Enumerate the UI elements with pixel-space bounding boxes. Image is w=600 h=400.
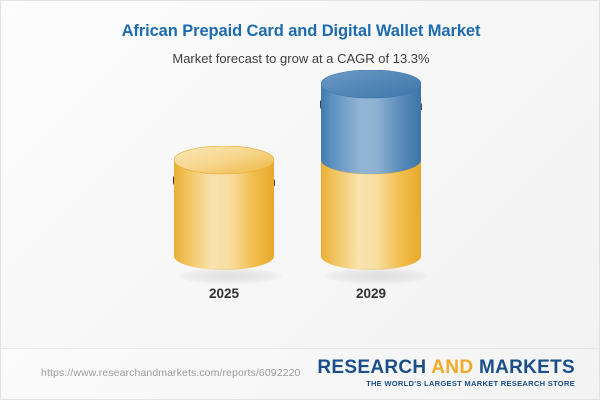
cylinder-2029-shape[interactable] xyxy=(321,70,421,270)
logo-word-markets: MARKETS xyxy=(479,357,575,378)
logo-word-research: RESEARCH xyxy=(317,357,426,378)
infographic-card: African Prepaid Card and Digital Wallet … xyxy=(0,0,600,400)
research-and-markets-logo[interactable]: RESEARCH AND MARKETS THE WORLD'S LARGEST… xyxy=(317,358,575,388)
cylinder-2025-shape[interactable] xyxy=(174,146,274,270)
category-label-2025: 2025 xyxy=(164,286,284,301)
cylinder-shadow xyxy=(178,268,282,284)
cylinder-2029-segment-base xyxy=(321,160,421,270)
logo-word-and-text: AND xyxy=(431,357,473,378)
cylinder-2029 xyxy=(321,70,421,275)
cylinder-2029-segment-growth-top xyxy=(321,70,421,98)
cylinder-2025 xyxy=(174,146,274,275)
report-url[interactable]: https://www.researchandmarkets.com/repor… xyxy=(41,367,300,379)
footer: https://www.researchandmarkets.com/repor… xyxy=(1,348,600,399)
chart-plot-area: USD 36.1 Billion xyxy=(1,1,600,351)
category-label-2029: 2029 xyxy=(311,286,431,301)
cylinder-shadow xyxy=(325,268,429,284)
cylinder-2025-top xyxy=(174,146,274,174)
cylinder-2025-body xyxy=(174,160,274,270)
logo-wordmark: RESEARCH AND MARKETS xyxy=(317,358,575,377)
logo-tagline: THE WORLD'S LARGEST MARKET RESEARCH STOR… xyxy=(317,380,575,388)
